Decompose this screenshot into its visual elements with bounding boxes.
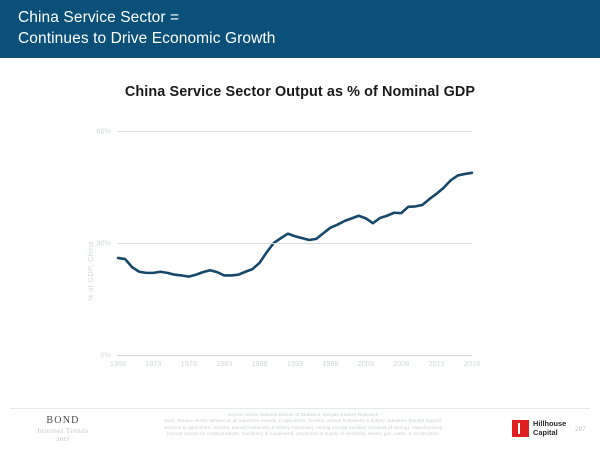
bond-logo: BOND Internet Trends 2019: [18, 415, 108, 443]
hillhouse-logo-line-2: Capital: [533, 429, 566, 437]
x-axis-tick-label: 2008: [393, 359, 409, 368]
page-number: 297: [575, 426, 586, 433]
source-and-note: Source: China National Bureau of Statist…: [112, 412, 494, 438]
x-axis-ticks: 1968197319781983198819931998200320082013…: [118, 359, 472, 373]
slide-footer: BOND Internet Trends 2019 Source: China …: [0, 405, 600, 450]
hillhouse-mark-icon: [512, 420, 529, 437]
plot-area: 0%30%60%: [118, 131, 472, 355]
x-axis-tick-label: 2003: [358, 359, 374, 368]
bond-logo-name: BOND: [18, 415, 108, 426]
x-axis-tick-label: 1993: [287, 359, 303, 368]
slide-title-line-2: Continues to Drive Economic Growth: [18, 28, 600, 49]
footer-divider: [10, 408, 590, 409]
x-axis-tick-label: 1973: [145, 359, 161, 368]
x-axis-tick-label: 1983: [216, 359, 232, 368]
x-axis-tick-label: 1988: [251, 359, 267, 368]
gridline-30pct: [118, 243, 472, 244]
chart-title: China Service Sector Output as % of Nomi…: [0, 84, 600, 100]
bond-logo-year: 2019: [18, 436, 108, 443]
hillhouse-logo-text: Hillhouse Capital: [533, 420, 566, 437]
note-text-line-3: (except repairs for metal products, mach…: [112, 431, 494, 437]
slide-header: China Service Sector = Continues to Driv…: [0, 0, 600, 58]
gridline-60pct: [118, 131, 472, 132]
chart-container: China Service Sector Output as % of Nomi…: [0, 58, 600, 405]
slide-title-line-1: China Service Sector =: [18, 7, 600, 28]
x-axis-tick-label: 1978: [181, 359, 197, 368]
x-axis-tick-label: 1998: [322, 359, 338, 368]
note-text-line-1: Note: Service sector defined as all indu…: [112, 418, 494, 424]
series-polyline: [118, 173, 472, 277]
y-axis-tick-label: 30%: [96, 239, 111, 248]
y-axis-tick-label: 60%: [96, 127, 111, 136]
gridline-0pct: [118, 355, 472, 356]
bond-logo-subtitle: Internet Trends: [18, 427, 108, 435]
hillhouse-capital-logo: Hillhouse Capital: [512, 420, 566, 437]
y-axis-title: % of GDP, China: [86, 241, 95, 301]
x-axis-tick-label: 2013: [428, 359, 444, 368]
x-axis-tick-label: 1968: [110, 359, 126, 368]
x-axis-tick-label: 2018: [464, 359, 480, 368]
